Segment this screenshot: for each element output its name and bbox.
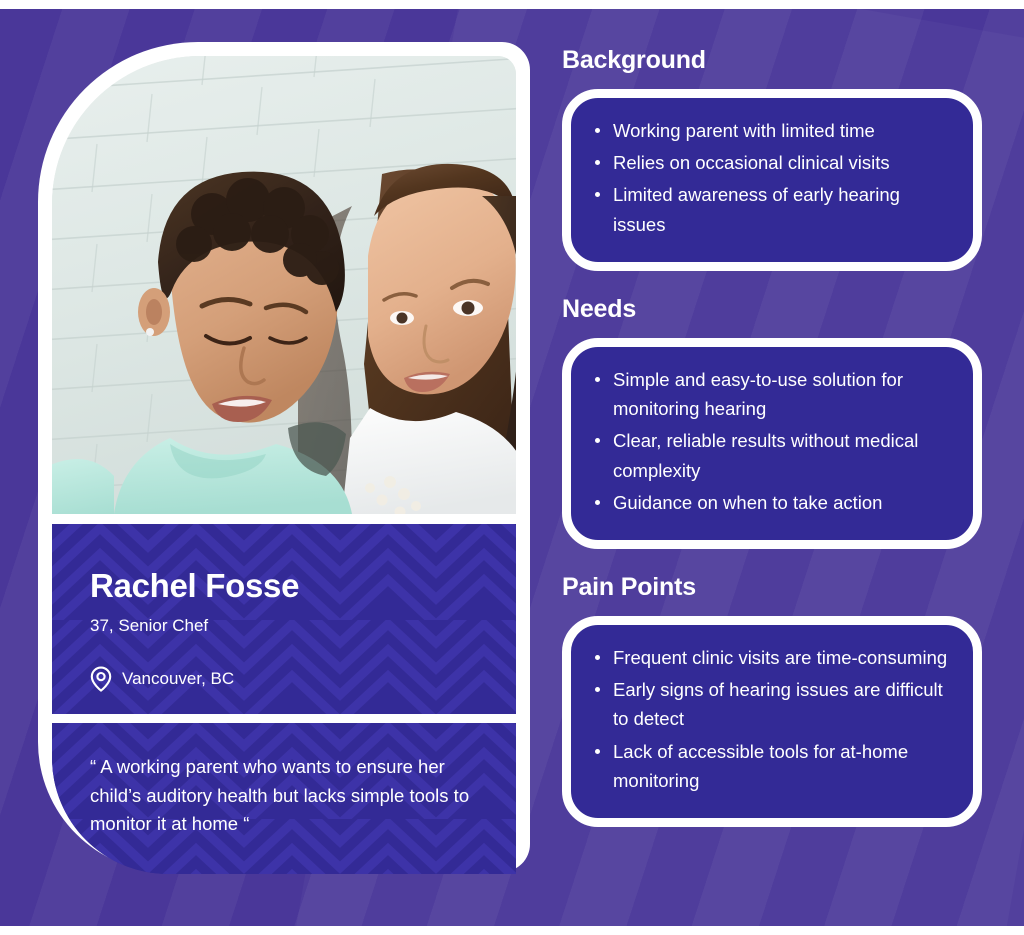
needs-bullet-list: Simple and easy-to-use solution for moni… xyxy=(587,365,951,517)
section-pain-points: Pain Points Frequent clinic visits are t… xyxy=(562,573,982,827)
background-card: Working parent with limited time Relies … xyxy=(562,89,982,271)
list-item: Early signs of hearing issues are diffic… xyxy=(587,675,951,733)
persona-quote-card: “ A working parent who wants to ensure h… xyxy=(52,723,516,874)
persona-name: Rachel Fosse xyxy=(90,568,516,604)
list-item: Relies on occasional clinical visits xyxy=(587,148,951,177)
background-bullet-list: Working parent with limited time Relies … xyxy=(587,116,951,239)
profile-frame: Rachel Fosse 37, Senior Chef Vancouver, … xyxy=(38,42,530,872)
needs-card: Simple and easy-to-use solution for moni… xyxy=(562,338,982,549)
map-pin-icon xyxy=(90,666,112,692)
profile-photo xyxy=(52,56,516,514)
persona-location-text: Vancouver, BC xyxy=(122,669,234,689)
list-item: Lack of accessible tools for at-home mon… xyxy=(587,737,951,795)
list-item: Limited awareness of early hearing issue… xyxy=(587,180,951,238)
identity-card: Rachel Fosse 37, Senior Chef Vancouver, … xyxy=(52,524,516,714)
list-item: Simple and easy-to-use solution for moni… xyxy=(587,365,951,423)
section-heading-needs: Needs xyxy=(562,295,982,324)
persona-card-canvas: Rachel Fosse 37, Senior Chef Vancouver, … xyxy=(0,0,1024,935)
persona-quote-text: “ A working parent who wants to ensure h… xyxy=(90,753,476,839)
pain-points-card: Frequent clinic visits are time-consumin… xyxy=(562,616,982,827)
section-heading-pain-points: Pain Points xyxy=(562,573,982,602)
section-needs: Needs Simple and easy-to-use solution fo… xyxy=(562,295,982,549)
section-heading-background: Background xyxy=(562,46,982,75)
persona-location: Vancouver, BC xyxy=(90,666,516,692)
persona-role: 37, Senior Chef xyxy=(90,616,516,636)
persona-info-column: Background Working parent with limited t… xyxy=(562,46,982,851)
list-item: Working parent with limited time xyxy=(587,116,951,145)
top-bleed-strip xyxy=(0,0,1024,9)
list-item: Guidance on when to take action xyxy=(587,488,951,517)
section-background: Background Working parent with limited t… xyxy=(562,46,982,271)
list-item: Clear, reliable results without medical … xyxy=(587,426,951,484)
list-item: Frequent clinic visits are time-consumin… xyxy=(587,643,951,672)
pain-points-bullet-list: Frequent clinic visits are time-consumin… xyxy=(587,643,951,795)
bottom-bleed-strip xyxy=(0,926,1024,935)
profile-photo-illustration xyxy=(52,56,516,514)
